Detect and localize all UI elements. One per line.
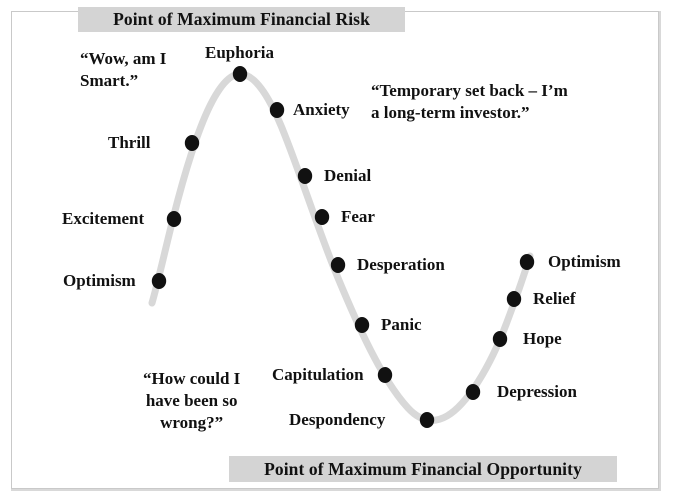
banner-maximum-financial-opportunity: Point of Maximum Financial Opportunity — [229, 456, 617, 482]
data-point-dot — [167, 211, 181, 227]
data-point-dot — [315, 209, 329, 225]
data-point-dot — [233, 66, 247, 82]
point-label-denial-5: Denial — [324, 167, 371, 184]
point-label-optimism-0: Optimism — [63, 272, 136, 289]
point-label-excitement-1: Excitement — [62, 210, 144, 227]
data-point-dot — [378, 367, 392, 383]
data-point-dot — [331, 257, 345, 273]
data-point-dot — [298, 168, 312, 184]
point-label-thrill-2: Thrill — [108, 134, 151, 151]
quote-wow: “Wow, am I Smart.” — [80, 48, 166, 92]
point-label-optimism-14: Optimism — [548, 253, 621, 270]
market-emotion-cycle-figure: Point of Maximum Financial Risk Optimism… — [0, 0, 680, 504]
data-point-dot — [507, 291, 521, 307]
data-point-dot — [185, 135, 199, 151]
point-label-despondency-10: Despondency — [289, 411, 385, 428]
quote-temporary: “Temporary set back – I’m a long-term in… — [371, 80, 568, 124]
data-point-dot — [270, 102, 284, 118]
point-label-panic-8: Panic — [381, 316, 422, 333]
point-label-fear-6: Fear — [341, 208, 375, 225]
point-label-hope-12: Hope — [523, 330, 562, 347]
point-label-anxiety-4: Anxiety — [293, 101, 350, 118]
point-label-euphoria-3: Euphoria — [205, 44, 274, 61]
data-point-dot — [466, 384, 480, 400]
data-point-dot — [520, 254, 534, 270]
data-point-dot — [420, 412, 434, 428]
quote-how-could-i: “How could I have been so wrong?” — [143, 368, 240, 433]
data-point-dot — [355, 317, 369, 333]
point-label-depression-11: Depression — [497, 383, 577, 400]
point-label-relief-13: Relief — [533, 290, 575, 307]
data-point-dot — [493, 331, 507, 347]
point-label-capitulation-9: Capitulation — [272, 366, 364, 383]
point-label-desperation-7: Desperation — [357, 256, 445, 273]
data-point-dot — [152, 273, 166, 289]
